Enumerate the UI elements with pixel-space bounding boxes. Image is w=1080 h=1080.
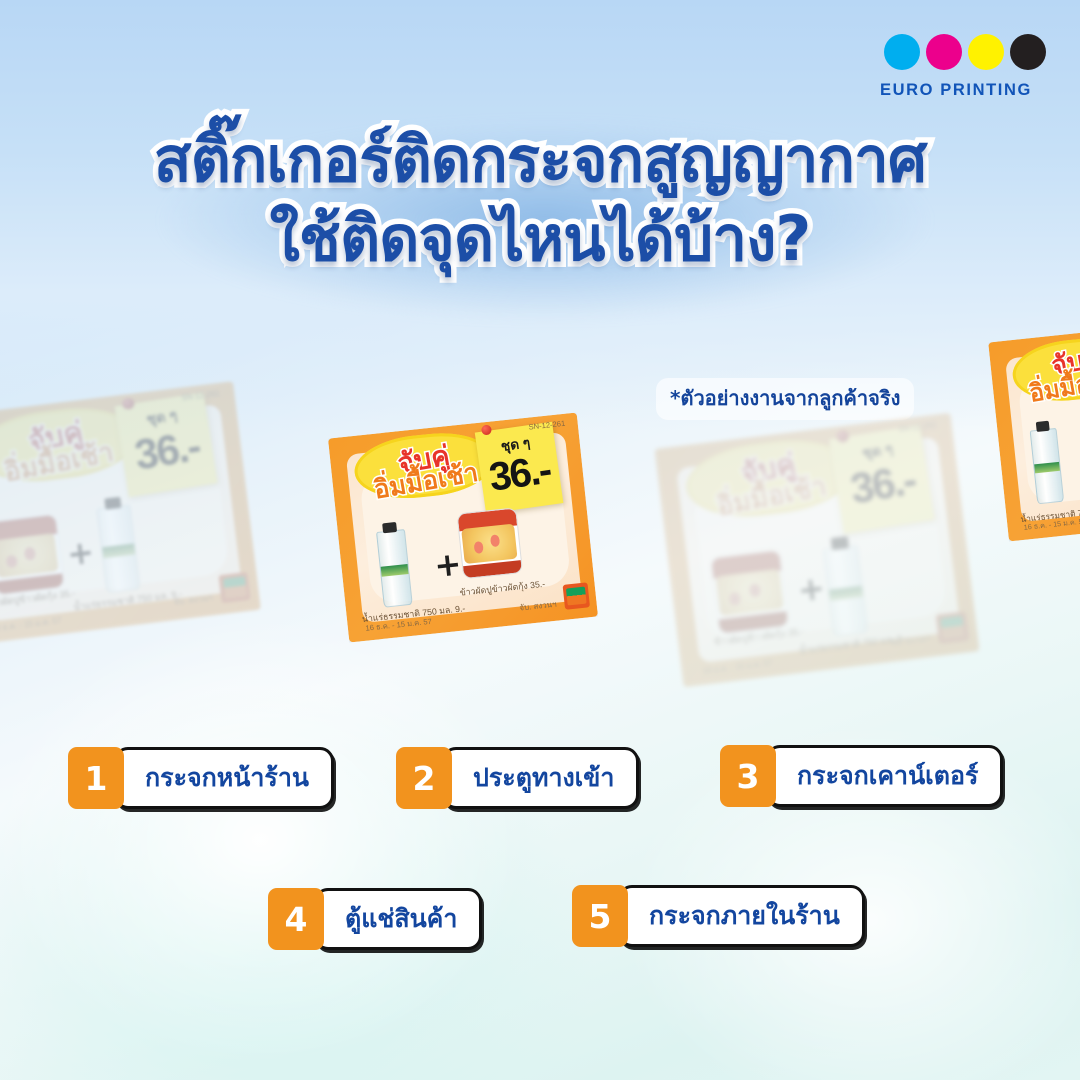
background-white-glow-right [520,640,1080,1080]
location-number-1: 1 [68,747,124,809]
location-label-box-5[interactable]: กระจกภายในร้าน [618,885,865,947]
sticker-tag-price: 36.- [478,446,561,501]
title-line-1: สติ๊กเกอร์ติดกระจกสูญญากาศ [0,128,1080,191]
location-item-5[interactable]: 5 กระจกภายในร้าน [572,885,865,947]
sticker-price-tag: ชุด ๆ 36.- [474,422,562,514]
pin-icon [122,397,135,410]
cmyk-dots [866,34,1046,70]
sticker-signature: จับ. สงวนฯ [519,597,557,614]
location-item-1[interactable]: 1 กระจกหน้าร้าน [68,747,334,809]
poster-canvas: EURO PRINTING สติ๊กเกอร์ติดกระจกสูญญากาศ… [0,0,1080,1080]
location-label-3: กระจกเคาน์เตอร์ [797,756,978,796]
brand-name: EURO PRINTING [866,81,1046,100]
location-label-2: ประตูทางเข้า [473,758,614,798]
location-number-4: 4 [268,888,324,950]
brand-logo: EURO PRINTING [866,34,1046,100]
location-number-3: 3 [720,745,776,807]
sample-note: *ตัวอย่างงานจากลูกค้าจริง [656,378,914,420]
meal-photo [0,514,64,595]
sticker-right: จับคู่ อิ่มมื้อเช้า ชุด ๆ 36.- + ข้าวผัด… [654,413,979,688]
sticker-price-tag: ชุด ๆ 36.- [829,425,935,534]
location-number-5: 5 [572,885,628,947]
plus-sign: + [432,544,463,585]
sticker-code: SN-12-261 [528,419,565,432]
location-label-box-4[interactable]: ตู้แช่สินค้า [314,888,482,950]
location-label-box-3[interactable]: กระจกเคาน์เตอร์ [766,745,1003,807]
sticker-center: จับคู่ อิ่มมื้อเช้า ชุด ๆ 36.- + น้ำแร่ธ… [328,412,598,642]
pin-icon [836,429,850,443]
seven-eleven-logo [562,583,589,610]
meal-photo [457,508,523,579]
seven-eleven-logo [219,572,251,603]
location-label-box-2[interactable]: ประตูทางเข้า [442,747,639,809]
meal-photo [710,550,789,634]
location-item-3[interactable]: 3 กระจกเคาน์เตอร์ [720,745,1003,807]
title-line-2: ใช้ติดจุดไหนได้บ้าง? [0,207,1080,270]
location-label-1: กระจกหน้าร้าน [145,758,309,798]
location-item-4[interactable]: 4 ตู้แช่สินค้า [268,888,482,950]
location-number-2: 2 [396,747,452,809]
plus-sign: + [65,533,96,574]
sticker-headline-badge: จับคู่ อิ่มมื้อเช้า [1009,333,1080,406]
pin-icon [480,425,491,436]
yellow-dot [968,34,1004,70]
location-label-box-1[interactable]: กระจกหน้าร้าน [114,747,334,809]
location-item-2[interactable]: 2 ประตูทางเข้า [396,747,639,809]
black-dot [1010,34,1046,70]
cyan-dot [884,34,920,70]
seven-eleven-logo [936,612,969,644]
plus-sign: + [796,569,827,610]
sticker-price-tag: ชุด ๆ 36.- [115,393,218,498]
magenta-dot [926,34,962,70]
page-title: สติ๊กเกอร์ติดกระจกสูญญากาศ ใช้ติดจุดไหนไ… [0,128,1080,270]
sticker-left: จับคู่ อิ่มมื้อเช้า ชุด ๆ 36.- + ข้าวผัด… [0,381,261,645]
location-label-5: กระจกภายในร้าน [649,896,840,936]
location-label-4: ตู้แช่สินค้า [345,899,457,939]
